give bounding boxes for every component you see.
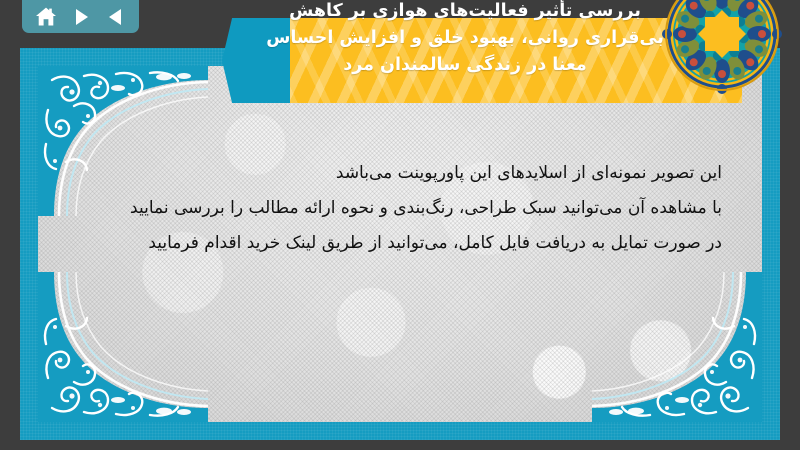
navigation-bar (22, 0, 139, 33)
prev-triangle-icon[interactable] (101, 4, 131, 30)
home-icon[interactable] (31, 4, 61, 30)
slide-frame: این تصویر نمونه‌ای از اسلایدهای این پاور… (20, 48, 780, 440)
slide-viewer: این تصویر نمونه‌ای از اسلایدهای این پاور… (0, 0, 800, 450)
arabesque-corner-ornament-bottom-right (592, 272, 762, 422)
persian-medallion-rosette (662, 0, 782, 94)
body-line-2: با مشاهده آن می‌توانید سبک طراحی، رنگ‌بن… (78, 191, 722, 226)
body-line-1: این تصویر نمونه‌ای از اسلایدهای این پاور… (78, 156, 722, 191)
slide-content-panel: این تصویر نمونه‌ای از اسلایدهای این پاور… (38, 66, 762, 422)
body-line-3: در صورت تمایل به دریافت فایل کامل، می‌تو… (78, 226, 722, 261)
banner-arrow-tail (222, 18, 294, 103)
slide-body-text: این تصویر نمونه‌ای از اسلایدهای این پاور… (78, 156, 722, 261)
arabesque-corner-ornament-bottom-left (38, 272, 208, 422)
next-triangle-icon[interactable] (66, 4, 96, 30)
